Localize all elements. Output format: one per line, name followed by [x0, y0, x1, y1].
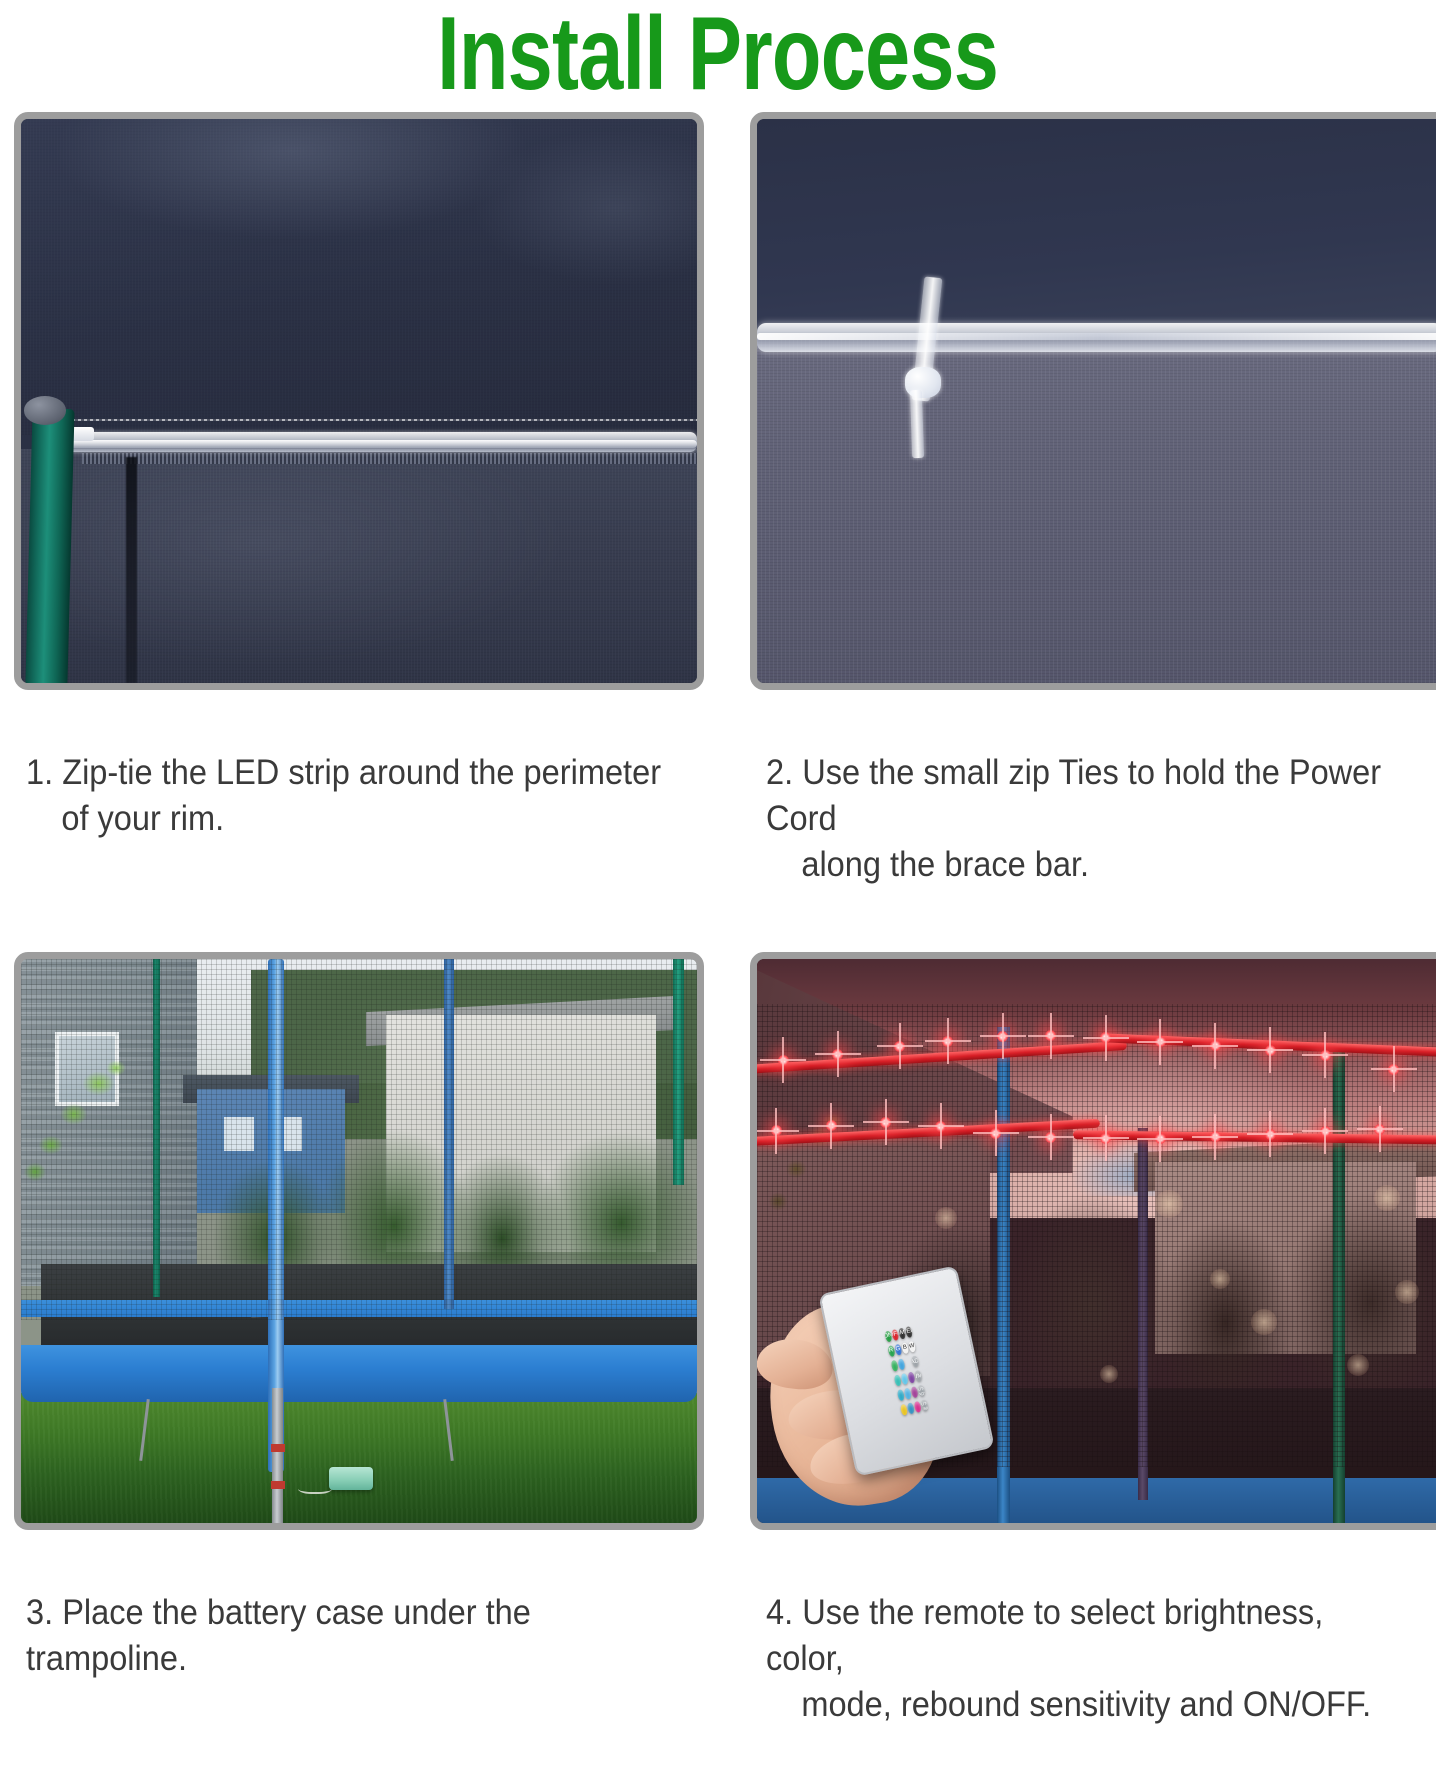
pole-label [271, 1481, 285, 1489]
remote-button-on[interactable]: ON [884, 1330, 892, 1342]
led-light [942, 1036, 953, 1047]
step-1-image-frame [14, 112, 704, 690]
led-light [1320, 1050, 1331, 1061]
bokeh-light [1155, 1190, 1183, 1218]
remote-button-time[interactable]: TIME [898, 1327, 906, 1339]
step-1-photo [21, 119, 697, 683]
remote-button-label: B [902, 1345, 907, 1352]
remote-button-red[interactable]: R [887, 1345, 895, 1357]
install-steps-grid: 1. Zip-tie the LED strip around the peri… [0, 112, 1436, 1774]
safety-net-mesh [21, 959, 697, 1320]
trampoline-pad [21, 1345, 697, 1401]
net-mesh-band [82, 453, 697, 464]
led-light [1100, 1133, 1111, 1144]
step-4-photo: ON OFF TIME SPEED R G B W FADE [757, 959, 1436, 1523]
remote-color-swatch[interactable] [907, 1402, 915, 1414]
remote-button-auto-jump[interactable]: AUTO JUMP [920, 1399, 928, 1411]
bokeh-light [1374, 1185, 1400, 1211]
step-2: 2. Use the small zip Ties to hold the Po… [750, 112, 1436, 934]
net-fabric-lower [21, 449, 697, 683]
remote-button-white[interactable]: W [908, 1341, 916, 1353]
led-light [997, 1031, 1008, 1042]
zip-tie-tail [909, 390, 924, 458]
remote-button-label: W [908, 1343, 915, 1350]
net-fabric-lower [757, 333, 1436, 683]
pole-lower-section [272, 1388, 282, 1523]
remote-button-label: AUTO FADE [917, 1385, 925, 1397]
led-light [1210, 1040, 1221, 1051]
step-1-caption: 1. Zip-tie the LED strip around the peri… [26, 704, 666, 888]
remote-button-label: G [895, 1346, 901, 1353]
grass-lawn [21, 1393, 697, 1523]
remote-color-swatch[interactable] [897, 1358, 905, 1370]
step-2-image-frame [750, 112, 1436, 690]
remote-button-jump[interactable]: JUMP [914, 1370, 922, 1382]
bokeh-light [1100, 1365, 1118, 1383]
step-3-image-frame [14, 952, 704, 1530]
led-strip-connector [71, 427, 94, 441]
led-light [826, 1120, 837, 1131]
led-light [1265, 1129, 1276, 1140]
step-2-photo [757, 119, 1436, 683]
step-3-caption-line1: 3. Place the battery case under the tram… [26, 1593, 531, 1678]
pole-cap [24, 396, 66, 424]
step-4-image-frame: ON OFF TIME SPEED R G B W FADE [750, 952, 1436, 1530]
remote-button-auto-fade[interactable]: AUTO FADE [917, 1385, 925, 1397]
step-4-caption-line2: mode, rebound sensitivity and ON/OFF. [766, 1682, 1402, 1728]
green-net-pole [26, 409, 75, 683]
step-3-photo [21, 959, 697, 1523]
pole-label [271, 1444, 285, 1452]
step-4: ON OFF TIME SPEED R G B W FADE [750, 952, 1436, 1774]
remote-color-swatch[interactable] [890, 1360, 898, 1372]
remote-button-green[interactable]: G [894, 1343, 902, 1355]
remote-button-label: TIME [898, 1329, 906, 1338]
remote-button-label: JUMP [914, 1371, 922, 1380]
led-light [1320, 1126, 1331, 1137]
step-1-caption-line1: 1. Zip-tie the LED strip around the peri… [26, 753, 661, 792]
remote-button-label: R [888, 1347, 893, 1354]
led-light [1265, 1045, 1276, 1056]
step-4-caption-line1: 4. Use the remote to select brightness, … [766, 1593, 1323, 1678]
rim-strand [48, 419, 697, 421]
led-strip-highlight [757, 333, 1436, 340]
remote-color-swatch[interactable] [900, 1404, 908, 1416]
step-3: 3. Place the battery case under the tram… [14, 952, 714, 1774]
led-light [894, 1041, 905, 1052]
remote-color-swatch[interactable] [900, 1373, 908, 1385]
bokeh-light [1210, 1269, 1230, 1289]
remote-button-speed[interactable]: SPEED [905, 1326, 913, 1338]
net-fabric-upper [21, 119, 697, 435]
step-1: 1. Zip-tie the LED strip around the peri… [14, 112, 714, 934]
remote-color-swatch[interactable] [897, 1389, 905, 1401]
battery-case [329, 1467, 373, 1491]
step-2-caption-line1: 2. Use the small zip Ties to hold the Po… [766, 753, 1381, 838]
step-4-caption: 4. Use the remote to select brightness, … [766, 1544, 1402, 1774]
remote-button-label: ON [884, 1332, 892, 1340]
step-2-caption-line2: along the brace bar. [766, 842, 1402, 888]
remote-button-label: OFF [891, 1330, 899, 1338]
led-light [1045, 1132, 1056, 1143]
battery-case-wire [298, 1481, 332, 1494]
led-light [990, 1128, 1001, 1139]
remote-button-blue[interactable]: B [901, 1342, 909, 1354]
step-2-caption: 2. Use the small zip Ties to hold the Po… [766, 704, 1402, 934]
page-title: Install Process [438, 2, 999, 106]
remote-color-swatch[interactable] [893, 1374, 901, 1386]
led-light [1210, 1131, 1221, 1142]
remote-button-grid: ON OFF TIME SPEED R G B W FADE [884, 1326, 928, 1416]
led-light [778, 1055, 789, 1066]
remote-button-off[interactable]: OFF [891, 1329, 899, 1341]
step-1-caption-line2: of your rim. [26, 796, 666, 842]
remote-button-label: AUTO JUMP [920, 1399, 928, 1411]
remote-color-swatch[interactable] [904, 1388, 912, 1400]
remote-color-swatch[interactable] [907, 1371, 915, 1383]
page-header: Install Process [0, 0, 1436, 112]
remote-button-label: SPEED [905, 1327, 913, 1337]
led-light [1388, 1064, 1399, 1075]
bokeh-light [1251, 1309, 1277, 1335]
remote-button-fade[interactable]: FADE [911, 1355, 919, 1367]
net-seam [126, 457, 137, 683]
step-3-caption: 3. Place the battery case under the tram… [26, 1544, 666, 1728]
bokeh-light [1347, 1354, 1369, 1376]
remote-button-label: FADE [911, 1357, 919, 1366]
led-strip-highlight [68, 440, 697, 448]
net-fabric-upper [757, 119, 1436, 345]
